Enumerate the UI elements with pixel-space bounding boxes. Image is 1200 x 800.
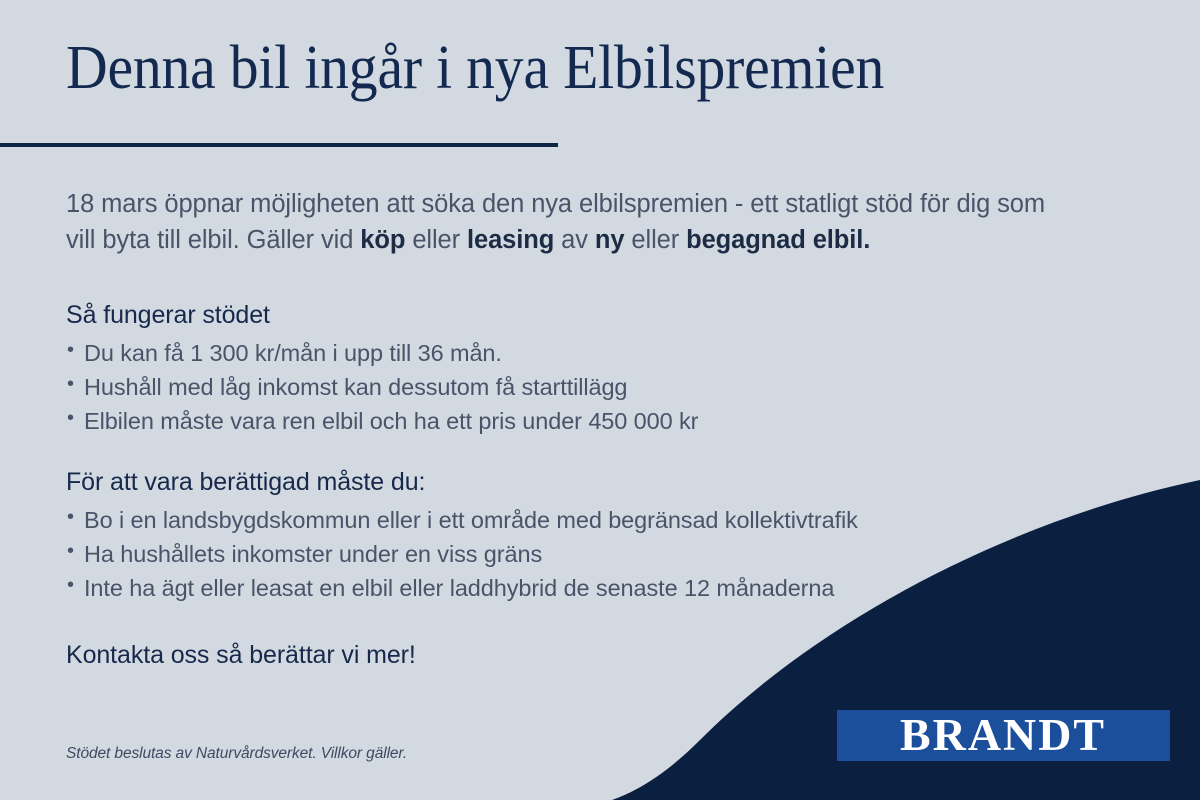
list-item: Elbilen måste vara ren elbil och ha ett …	[66, 404, 1076, 438]
list-item: Du kan få 1 300 kr/mån i upp till 36 mån…	[66, 336, 1076, 370]
intro-text-part2: eller	[405, 226, 467, 254]
brandt-logo: BRANDT	[837, 710, 1170, 761]
intro-text-part3: av	[554, 226, 595, 254]
section-title-eligibility: För att vara berättigad måste du:	[66, 467, 1076, 497]
section-eligibility: För att vara berättigad måste du: Bo i e…	[66, 467, 1076, 605]
brandt-logo-text: BRANDT	[900, 713, 1106, 758]
title-underline-rule	[0, 143, 558, 147]
list-item: Ha hushållets inkomster under en viss gr…	[66, 537, 1076, 571]
intro-bold-begagnad-elbil: begagnad elbil.	[686, 226, 870, 254]
intro-paragraph: 18 mars öppnar möjligheten att söka den …	[66, 186, 1066, 258]
footnote-disclaimer: Stödet beslutas av Naturvårdsverket. Vil…	[66, 745, 407, 763]
intro-bold-ny: ny	[595, 226, 625, 254]
bullet-list-how-it-works: Du kan få 1 300 kr/mån i upp till 36 mån…	[66, 336, 1076, 438]
intro-text-part4: eller	[624, 226, 686, 254]
list-item: Hushåll med låg inkomst kan dessutom få …	[66, 370, 1076, 404]
section-title-how-it-works: Så fungerar stödet	[66, 300, 1076, 330]
call-to-action-text: Kontakta oss så berättar vi mer!	[66, 641, 416, 670]
page-title: Denna bil ingår i nya Elbilspremien	[66, 36, 884, 101]
bullet-list-eligibility: Bo i en landsbygdskommun eller i ett omr…	[66, 503, 1076, 605]
promo-poster: Denna bil ingår i nya Elbilspremien 18 m…	[0, 0, 1200, 800]
intro-bold-kop: köp	[360, 226, 405, 254]
section-how-it-works: Så fungerar stödet Du kan få 1 300 kr/må…	[66, 300, 1076, 438]
intro-bold-leasing: leasing	[467, 226, 554, 254]
list-item: Inte ha ägt eller leasat en elbil eller …	[66, 571, 1076, 605]
list-item: Bo i en landsbygdskommun eller i ett omr…	[66, 503, 1076, 537]
